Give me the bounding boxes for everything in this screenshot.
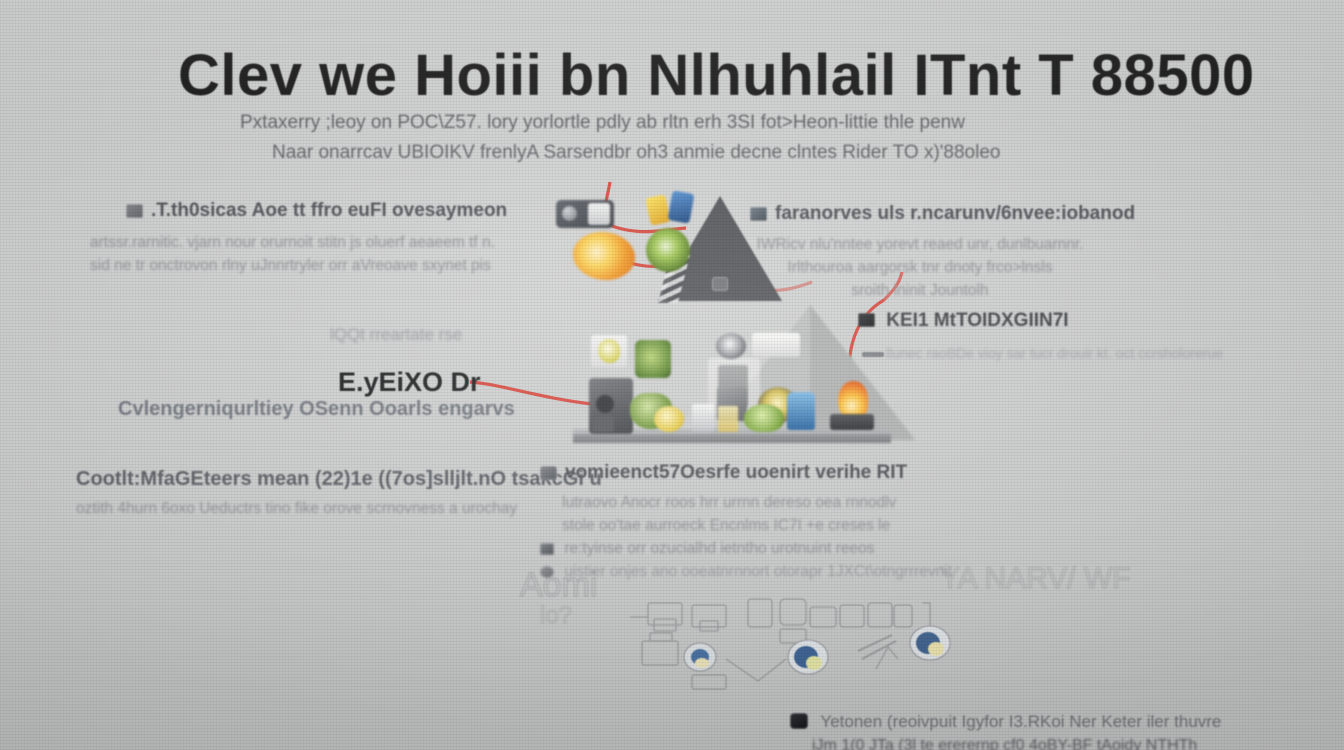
lemon-icon bbox=[654, 406, 684, 432]
card-sketch-icon bbox=[894, 605, 912, 627]
page-title: Clev we Hoiii bn Nlhuhlail ITnt T 88500 bbox=[178, 42, 1255, 109]
sketch-icon-row bbox=[630, 585, 970, 690]
section-bottom-right-body: lutraovo Anocr roos hrr urrnn dereso oea… bbox=[562, 491, 940, 583]
section-bottom-left: Cootlt:MfaGEteers mean (22)1e ((7os]sllj… bbox=[76, 468, 602, 520]
section-bottom-right-heading: vomieenct57Oesrfe uoenirt verihe RIT bbox=[540, 462, 940, 484]
footer-line-1: Yetonen (reoivpuit Igyfor I3.RKoi Ner Ke… bbox=[790, 712, 1221, 732]
photo-icon bbox=[750, 207, 767, 221]
label-tag-icon bbox=[752, 333, 800, 357]
arrow-sketch-icon bbox=[726, 659, 786, 681]
eye-sketch-icon bbox=[684, 643, 716, 671]
bullet-icon bbox=[540, 566, 554, 578]
document-icon bbox=[126, 204, 143, 218]
record-icon bbox=[716, 333, 746, 359]
eye-sketch-icon bbox=[788, 640, 828, 674]
mid-left-big-sublabel: Cvlengerniqurltiey OSenn Ooarls engarvs bbox=[118, 398, 515, 421]
ghost-text-right: YA NARV/ WF bbox=[940, 562, 1131, 596]
flag-icon bbox=[858, 313, 875, 327]
section-mid-right-body: llunec raoBDe vioy sar tucr drouir kt. o… bbox=[886, 345, 1223, 361]
bullet-icon bbox=[540, 543, 554, 555]
green-lens-icon bbox=[646, 228, 690, 272]
stove-base-icon bbox=[830, 414, 874, 430]
section-bottom-right: vomieenct57Oesrfe uoenirt verihe RIT lut… bbox=[540, 462, 940, 583]
pyramid-dark-marker bbox=[712, 277, 728, 291]
glass-icon-2 bbox=[718, 406, 738, 432]
picture-frame-swirl bbox=[598, 339, 620, 363]
mid-left-label: lQQt rreartate rse bbox=[330, 325, 462, 345]
section-heading-text: faranorves uls r.ncarunv/6nvee:iobanod bbox=[775, 203, 1135, 225]
person-sketch-icon bbox=[748, 599, 772, 627]
box-sketch-icon bbox=[692, 675, 726, 689]
section-bottom-left-heading: Cootlt:MfaGEteers mean (22)1e ((7os]sllj… bbox=[76, 468, 602, 491]
section-top-right-heading: faranorves uls r.ncarunv/6nvee:iobanod bbox=[750, 203, 1090, 225]
eye-sketch-icon bbox=[910, 626, 950, 660]
box-sketch-icon bbox=[642, 641, 678, 665]
section-heading-text: .T.th0sicas Aoe tt ffro euFI ovesaymeon bbox=[151, 200, 507, 222]
card-sketch-icon bbox=[810, 607, 836, 627]
device-icon-dial bbox=[562, 206, 577, 221]
card-sketch-icon bbox=[868, 603, 892, 627]
dash-marker-icon bbox=[862, 352, 884, 357]
appliance-knob bbox=[596, 395, 614, 413]
glass-icon bbox=[692, 404, 714, 432]
scene-shelf bbox=[573, 434, 891, 443]
card-sketch-icon bbox=[840, 605, 864, 627]
slide-canvas: Aomi lo? YA NARV/ WF Clev we Hoiii bn Nl… bbox=[0, 0, 1344, 750]
section-top-left: .T.th0sicas Aoe tt ffro euFI ovesaymeon … bbox=[126, 200, 507, 277]
bracket-sketch-icon bbox=[922, 603, 930, 629]
lettuce-icon bbox=[744, 404, 784, 432]
section-top-right: faranorves uls r.ncarunv/6nvee:iobanod I… bbox=[750, 203, 1090, 302]
device-icon-screen bbox=[588, 203, 610, 225]
mid-left-big-label: E.yEiXO Dr bbox=[338, 367, 481, 398]
footer-line-2: iJm 1(0 JTa (3l te ererernp cf0 4oBY-BF … bbox=[812, 737, 1197, 750]
subtitle-line-2: Naar onarrcav UBIOIKV frenlyA Sarsendbr … bbox=[272, 142, 1000, 164]
section-top-left-body: artssr.rarnitic. vjarn nour orurnoit sti… bbox=[90, 231, 507, 277]
appliance-door bbox=[592, 416, 614, 432]
plant-icon bbox=[635, 340, 671, 378]
bottle-icon bbox=[787, 392, 815, 430]
chat-icon bbox=[540, 466, 557, 480]
section-mid-right-heading: KEI1 MtTOIDXGIIN7I bbox=[858, 310, 1069, 332]
app-icon bbox=[790, 713, 808, 729]
fire-blob-icon bbox=[573, 232, 635, 280]
section-bottom-left-body: oztith 4hurn 6oxo Ueductrs tino fike oro… bbox=[76, 497, 602, 520]
printer-sketch-icon bbox=[648, 603, 682, 625]
printer-sketch-icon bbox=[692, 605, 726, 627]
subtitle-line-1: Pxtaxerry ;leoy on POC\Z57. lory yorlort… bbox=[240, 112, 965, 134]
section-top-left-heading: .T.th0sicas Aoe tt ffro euFI ovesaymeon bbox=[126, 200, 507, 222]
gear-sketch-icon bbox=[780, 599, 806, 625]
ghost-text-left-small: lo? bbox=[540, 602, 572, 630]
section-top-right-body: IWRicv nlu'nntee yorevt reaed unr, dunlb… bbox=[750, 233, 1090, 302]
